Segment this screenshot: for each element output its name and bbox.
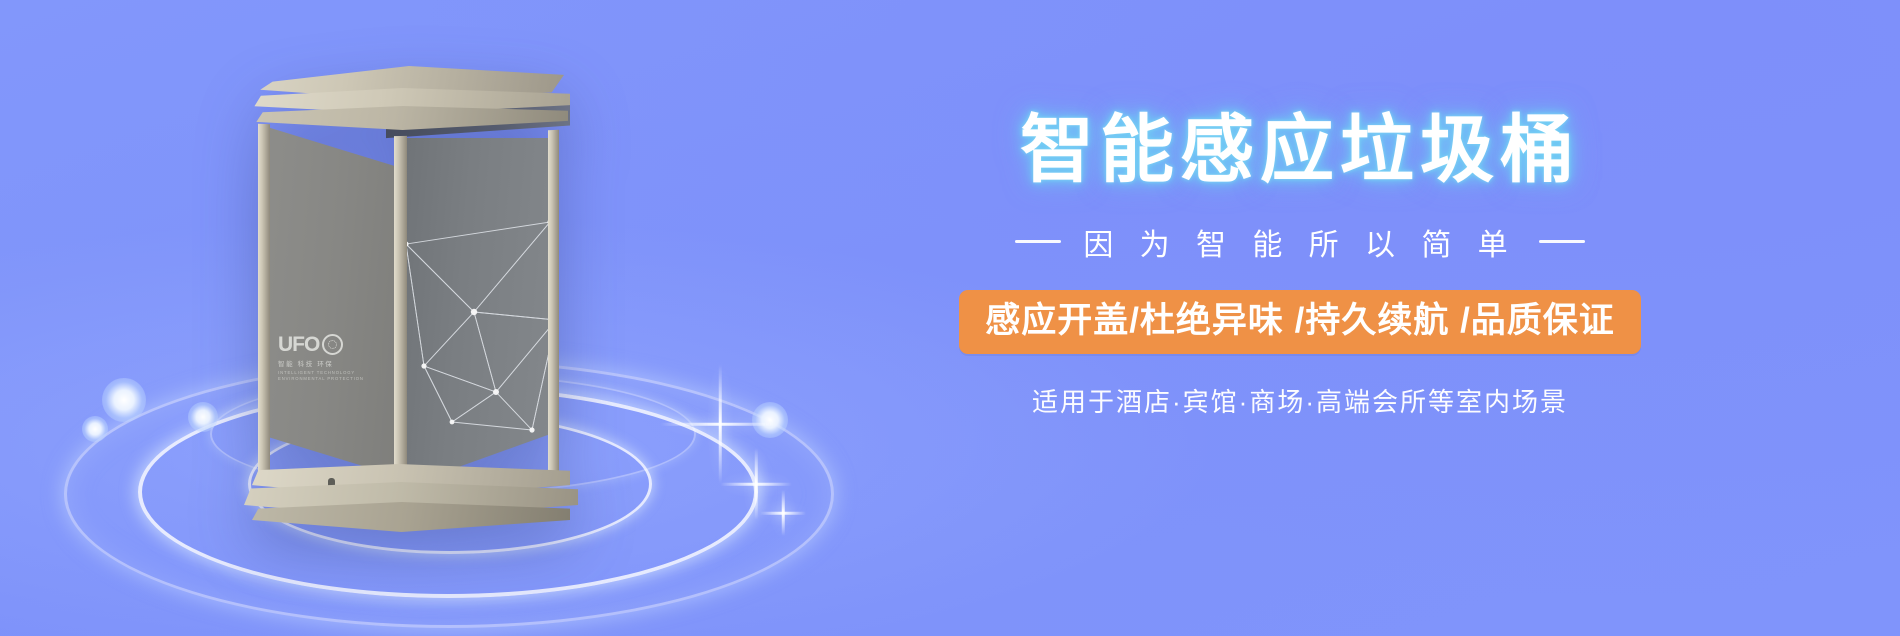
brand-badge: UFO 智能 科技 环保 INTELLIGENT TECHNOLOGY ENVI… <box>278 334 374 396</box>
circular-emblem-icon <box>322 334 343 355</box>
rule-right <box>1539 240 1585 243</box>
polygon-network-graphic <box>400 216 560 446</box>
tagline-row: 因 为 智 能 所 以 简 单 <box>880 220 1720 264</box>
feature-highlight-bar: 感应开盖/杜绝异味 /持久续航 /品质保证 <box>959 290 1641 354</box>
brand-mark: UFO <box>278 334 374 355</box>
rule-left <box>1015 240 1061 243</box>
bin-corner-post-left <box>258 124 270 480</box>
product-promo-banner: UFO 智能 科技 环保 INTELLIGENT TECHNOLOGY ENVI… <box>0 0 1900 636</box>
glow-dot-icon <box>752 402 788 438</box>
glow-dot-icon <box>188 402 218 432</box>
tagline: 因 为 智 能 所 以 简 单 <box>1083 220 1516 264</box>
glow-dot-icon <box>82 416 108 442</box>
feature-list: 感应开盖/杜绝异味 /持久续航 /品质保证 <box>985 301 1615 340</box>
brand-subtitle-en: INTELLIGENT TECHNOLOGY ENVIRONMENTAL PRO… <box>278 370 374 383</box>
use-case-text: 适用于酒店·宾馆·商场·高端会所等室内场景 <box>880 382 1720 419</box>
smart-trash-bin-render: UFO 智能 科技 环保 INTELLIGENT TECHNOLOGY ENVI… <box>236 66 580 526</box>
page-title: 智能感应垃圾桶 <box>880 110 1720 190</box>
bin-face-left <box>264 126 402 478</box>
brand-subtitle-cn: 智能 科技 环保 <box>278 358 374 368</box>
glow-dot-icon <box>102 378 146 422</box>
brand-wordmark: UFO <box>278 334 319 355</box>
banner-copy: 智能感应垃圾桶 因 为 智 能 所 以 简 单 感应开盖/杜绝异味 /持久续航 … <box>880 110 1720 419</box>
product-image: UFO 智能 科技 环保 INTELLIGENT TECHNOLOGY ENVI… <box>60 20 840 620</box>
bin-corner-post-center <box>394 136 407 488</box>
bin-corner-post-right <box>548 130 559 472</box>
